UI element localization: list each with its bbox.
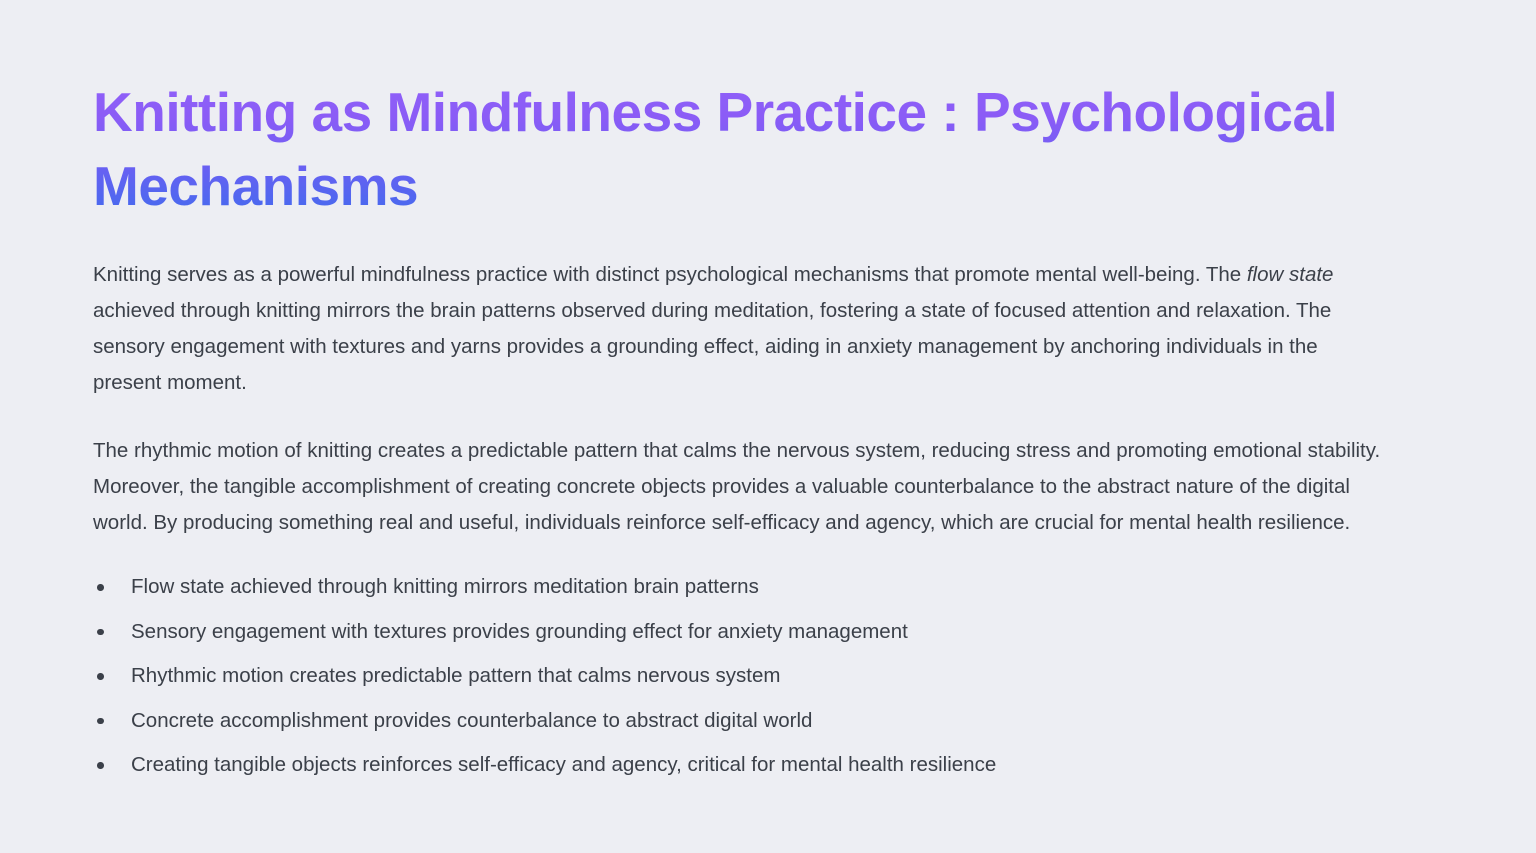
list-item-label: Creating tangible objects reinforces sel… — [131, 753, 996, 776]
paragraph-1-emphasis: flow state — [1247, 263, 1334, 286]
bullet-dot-icon — [97, 762, 104, 769]
bullet-dot-icon — [97, 673, 104, 680]
document-content: Knitting as Mindfulness Practice : Psych… — [93, 76, 1383, 796]
key-points-list: Flow state achieved through knitting mir… — [93, 573, 1383, 779]
page-title: Knitting as Mindfulness Practice : Psych… — [93, 76, 1353, 223]
paragraph-1: Knitting serves as a powerful mindfulnes… — [93, 257, 1383, 401]
list-item-label: Flow state achieved through knitting mir… — [131, 575, 759, 598]
list-item: Creating tangible objects reinforces sel… — [93, 751, 1383, 779]
bullet-dot-icon — [97, 584, 104, 591]
paragraph-2: The rhythmic motion of knitting creates … — [93, 433, 1383, 541]
paragraph-1-tail: achieved through knitting mirrors the br… — [93, 299, 1331, 394]
list-item: Sensory engagement with textures provide… — [93, 618, 1383, 646]
bullet-dot-icon — [97, 718, 104, 725]
list-item: Rhythmic motion creates predictable patt… — [93, 662, 1383, 690]
list-item: Flow state achieved through knitting mir… — [93, 573, 1383, 601]
list-item-label: Concrete accomplishment provides counter… — [131, 709, 812, 732]
list-item-label: Sensory engagement with textures provide… — [131, 620, 908, 643]
list-item: Concrete accomplishment provides counter… — [93, 707, 1383, 735]
paragraph-1-lead: Knitting serves as a powerful mindfulnes… — [93, 263, 1247, 286]
list-item-label: Rhythmic motion creates predictable patt… — [131, 664, 780, 687]
bullet-dot-icon — [97, 629, 104, 636]
slide-canvas: Knitting as Mindfulness Practice : Psych… — [0, 0, 1536, 853]
